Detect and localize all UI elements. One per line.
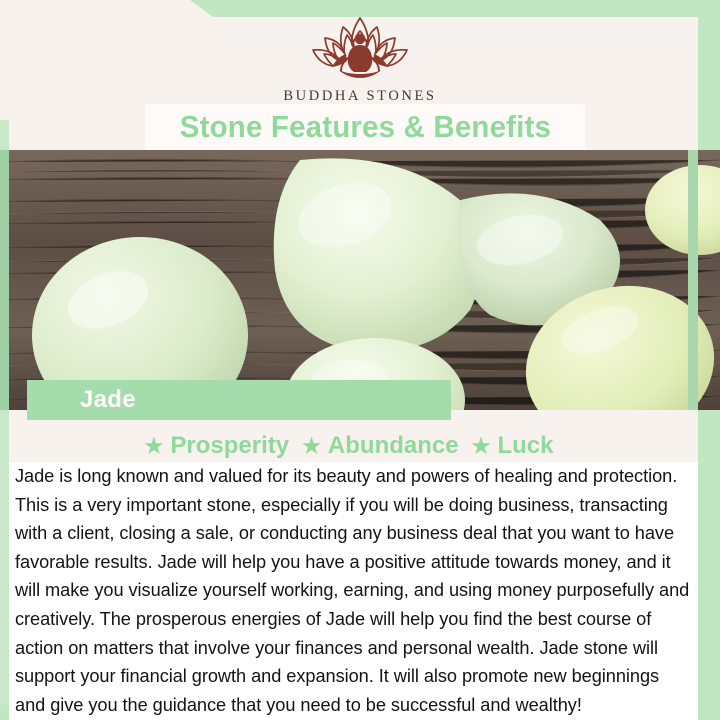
stone-name-label: Jade: [80, 386, 136, 414]
star-icon: ★: [302, 436, 321, 457]
benefit-label: Prosperity: [170, 432, 289, 460]
benefit-item: ★ Abundance: [302, 432, 459, 460]
photo-right-green-edge: [688, 150, 698, 410]
benefit-label: Abundance: [328, 432, 459, 460]
brand-name: BUDDHA STONES: [283, 88, 436, 105]
title-banner: Stone Features & Benefits: [145, 104, 585, 150]
benefit-item: ★ Luck: [472, 432, 554, 460]
lotus-meditation-icon: [299, 14, 421, 86]
photo-left-green-edge: [0, 150, 9, 410]
description-panel: Jade is long known and valued for its be…: [9, 462, 698, 720]
page-title: Stone Features & Benefits: [179, 109, 550, 145]
benefit-item: ★ Prosperity: [145, 432, 290, 460]
description-text: Jade is long known and valued for its be…: [15, 462, 692, 719]
brand-logo: BUDDHA STONES: [0, 14, 720, 105]
star-icon: ★: [472, 436, 491, 457]
stone-info-card: BUDDHA STONES Stone Features & Benefits: [0, 0, 720, 720]
stone-name-bar: Jade: [27, 380, 451, 420]
stone-photo: [0, 150, 720, 410]
star-icon: ★: [145, 436, 164, 457]
stone-photo-illustration: [0, 150, 720, 410]
benefit-label: Luck: [497, 432, 553, 460]
benefits-row: ★ Prosperity ★ Abundance ★ Luck: [0, 430, 698, 462]
